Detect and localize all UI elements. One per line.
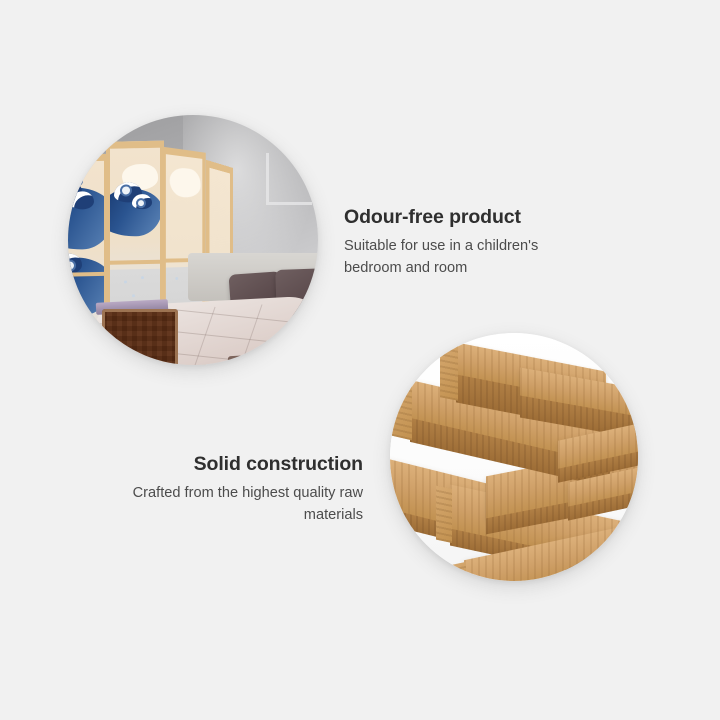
feature-image-odour-free (68, 115, 318, 365)
marketing-feature-panel: Odour-free product Suitable for use in a… (0, 0, 720, 720)
bedroom-photo (68, 115, 318, 365)
feature-description: Suitable for use in a children's bedroom… (344, 236, 594, 278)
wicker-nightstand (102, 309, 178, 365)
timber-stack-photo (390, 333, 638, 581)
feature-image-solid-construction (390, 333, 638, 581)
feature-text-odour-free: Odour-free product Suitable for use in a… (344, 205, 594, 279)
feature-text-solid-construction: Solid construction Crafted from the high… (113, 452, 363, 526)
feature-description: Crafted from the highest quality raw mat… (113, 483, 363, 525)
feature-title: Solid construction (113, 452, 363, 476)
window-frame (266, 153, 312, 205)
feature-title: Odour-free product (344, 205, 594, 229)
